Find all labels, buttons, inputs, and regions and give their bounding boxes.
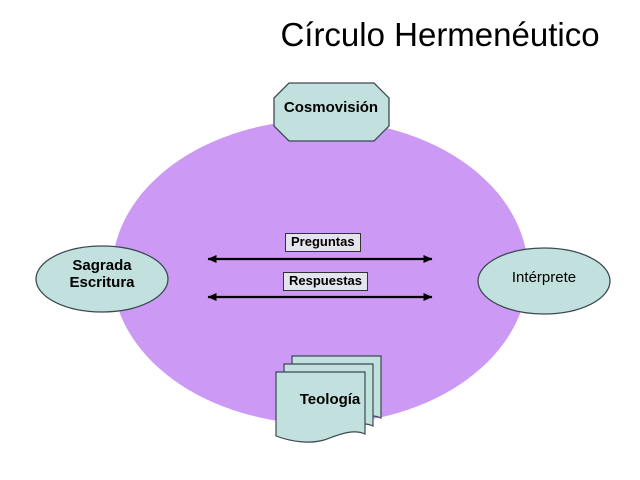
diagram-canvas: Círculo Hermenéutico Co [0,0,640,480]
respuestas-connector-label: Respuestas [283,272,368,291]
cosmovision-octagon[interactable] [274,83,389,141]
interprete-ellipse[interactable] [478,248,610,314]
sagrada-escritura-ellipse[interactable] [36,246,168,312]
teologia-stacked-documents[interactable] [276,356,381,442]
teologia-sheet-front [276,372,365,442]
preguntas-connector-label: Preguntas [285,233,361,252]
